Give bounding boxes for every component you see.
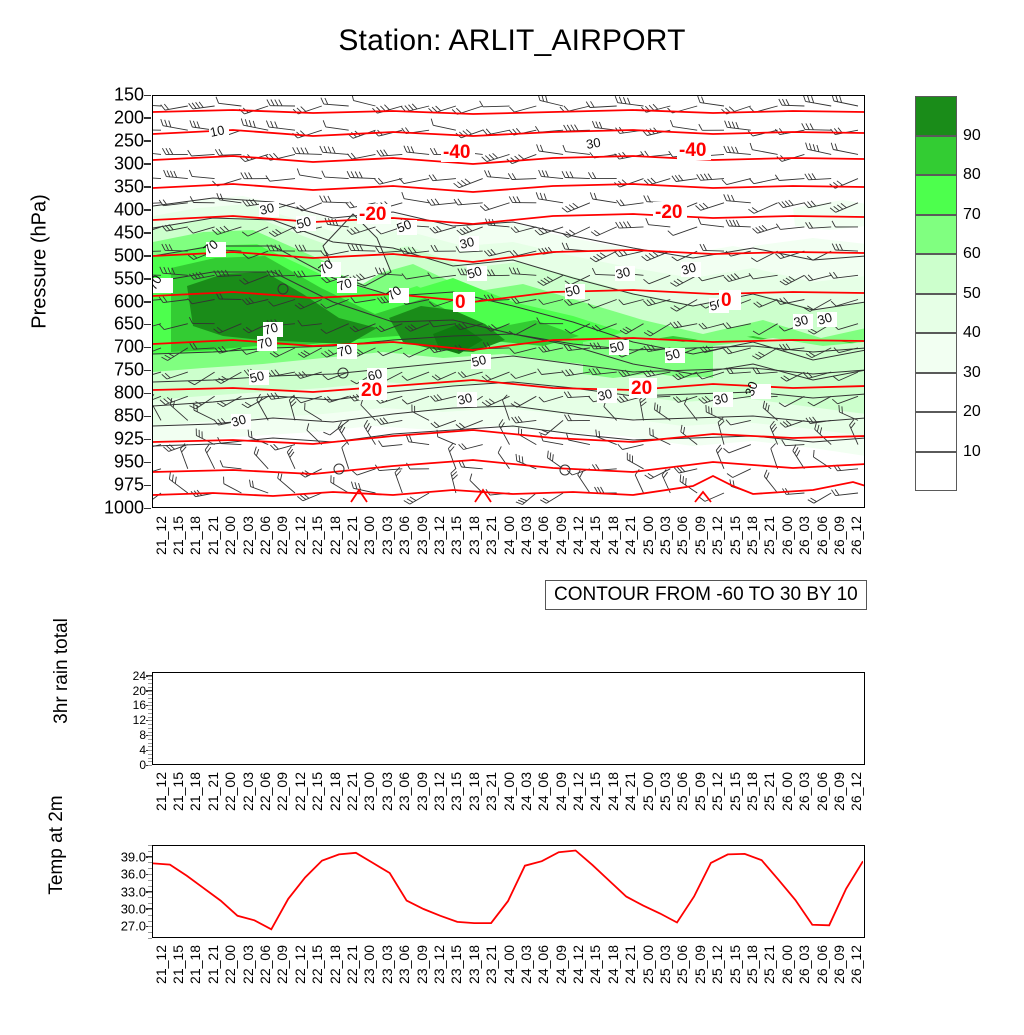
rain-panel-ytick-labels: 24201612840	[100, 672, 146, 765]
rain-time-tick-24_03: 24_03	[518, 772, 534, 811]
rain-tick-8: 8	[102, 728, 146, 742]
rain-time-tick-23_15: 23_15	[448, 772, 464, 811]
rain-time-tick-23_21: 23_21	[483, 772, 499, 811]
temp-time-tick-25_06: 25_06	[674, 945, 690, 984]
rain-time-tick-23_12: 23_12	[431, 772, 447, 811]
page-title: Station: ARLIT_AIRPORT	[0, 24, 1024, 58]
pressure-tick-400: 400	[84, 199, 144, 220]
wind-barb-feather	[686, 478, 687, 485]
time-tick-23_15: 23_15	[448, 516, 464, 555]
main-panel-ylabel: Pressure (hPa)	[29, 142, 52, 382]
temp-time-tick-24_06: 24_06	[535, 945, 551, 984]
rain-time-tick-23_09: 23_09	[414, 772, 430, 811]
pressure-tickmark	[144, 439, 151, 441]
temp-time-tick-26_00: 26_00	[779, 945, 795, 984]
wind-barb-feather	[814, 450, 815, 457]
temp-panel-ytick-labels: 39.036.033.030.027.0	[92, 845, 146, 938]
time-tick-23_09: 23_09	[414, 516, 430, 555]
temp-time-tick-22_18: 22_18	[327, 945, 343, 984]
temp-time-tick-25_21: 25_21	[761, 945, 777, 984]
time-tick-24_18: 24_18	[605, 516, 621, 555]
temp-time-tick-23_06: 23_06	[396, 945, 412, 984]
temp-time-tick-22_03: 22_03	[240, 945, 256, 984]
temp-time-tick-25_15: 25_15	[727, 945, 743, 984]
pressure-tick-600: 600	[84, 291, 144, 312]
temp-time-tick-21_15: 21_15	[170, 945, 186, 984]
time-tick-25_09: 25_09	[692, 516, 708, 555]
rain-time-tick-24_00: 24_00	[501, 772, 517, 811]
pressure-tick-800: 800	[84, 383, 144, 404]
rain-time-tick-25_00: 25_00	[640, 772, 656, 811]
pressure-tickmark	[144, 393, 151, 395]
rain-time-tick-24_12: 24_12	[570, 772, 586, 811]
temp-minor-tickmark	[148, 938, 152, 939]
pressure-tick-650: 650	[84, 314, 144, 335]
temp-tick-27.0: 27.0	[102, 919, 146, 934]
temp-time-tick-23_00: 23_00	[361, 945, 377, 984]
svg-text:-40: -40	[679, 140, 706, 161]
time-tick-22_21: 22_21	[344, 516, 360, 555]
pressure-tickmark	[144, 324, 151, 326]
temp-time-tick-26_06: 26_06	[814, 945, 830, 984]
temp-time-tick-23_03: 23_03	[379, 945, 395, 984]
time-tick-21_12: 21_12	[153, 516, 169, 555]
wind-barb-feather	[839, 405, 840, 412]
time-tick-26_12: 26_12	[848, 516, 864, 555]
temp-time-tick-22_06: 22_06	[257, 945, 273, 984]
time-tick-25_12: 25_12	[709, 516, 725, 555]
colorbar-band-6	[915, 333, 957, 373]
rain-time-tick-21_18: 21_18	[187, 772, 203, 811]
time-tick-21_21: 21_21	[205, 516, 221, 555]
temp-time-tick-25_18: 25_18	[744, 945, 760, 984]
pressure-tickmark	[144, 140, 151, 142]
rain-time-tick-25_12: 25_12	[709, 772, 725, 811]
temp-time-tick-24_12: 24_12	[570, 945, 586, 984]
temp-time-tick-21_21: 21_21	[205, 945, 221, 984]
temp-time-tick-22_09: 22_09	[274, 945, 290, 984]
temperature-plot[interactable]	[152, 845, 865, 938]
contour-caption: CONTOUR FROM -60 TO 30 BY 10	[545, 580, 867, 610]
temp-time-tick-26_12: 26_12	[848, 945, 864, 984]
pressure-tickmark	[144, 232, 151, 234]
temp-time-tick-23_15: 23_15	[448, 945, 464, 984]
svg-text:20: 20	[361, 380, 382, 401]
time-tick-26_09: 26_09	[831, 516, 847, 555]
pressure-tick-925: 925	[84, 429, 144, 450]
temp-time-tick-23_21: 23_21	[483, 945, 499, 984]
pressure-tick-750: 750	[84, 360, 144, 381]
rain-panel-xtick-labels: 21_1221_1521_1821_2122_0022_0322_0622_09…	[152, 772, 865, 852]
time-tick-24_12: 24_12	[570, 516, 586, 555]
temp-time-tick-25_12: 25_12	[709, 945, 725, 984]
pressure-tickmark	[144, 278, 151, 280]
pressure-tick-500: 500	[84, 245, 144, 266]
temp-panel-ylabel: Temp at 2m	[46, 750, 68, 940]
temp-panel-xtick-labels: 21_1221_1521_1821_2122_0022_0322_0622_09…	[152, 945, 865, 1025]
colorbar-band-0	[915, 96, 957, 136]
colorbar-label-10: 10	[963, 443, 981, 461]
time-tick-24_06: 24_06	[535, 516, 551, 555]
time-tick-25_03: 25_03	[657, 516, 673, 555]
temp-time-tick-22_12: 22_12	[292, 945, 308, 984]
pressure-tick-250: 250	[84, 130, 144, 151]
time-tick-22_18: 22_18	[327, 516, 343, 555]
rain-time-tick-25_06: 25_06	[674, 772, 690, 811]
rain-minor-tickmark	[148, 765, 152, 766]
time-tick-23_00: 23_00	[361, 516, 377, 555]
pressure-tickmark	[144, 209, 151, 211]
pressure-tickmark	[144, 301, 151, 303]
temp-time-tick-25_09: 25_09	[692, 945, 708, 984]
rain-time-tick-25_15: 25_15	[727, 772, 743, 811]
temp-time-tick-23_09: 23_09	[414, 945, 430, 984]
rain-time-tick-22_18: 22_18	[327, 772, 343, 811]
time-tick-22_09: 22_09	[274, 516, 290, 555]
temp-time-tick-21_12: 21_12	[153, 945, 169, 984]
pressure-tick-700: 700	[84, 337, 144, 358]
colorbar-label-90: 90	[963, 127, 981, 145]
pressure-tickmark	[144, 416, 151, 418]
svg-text:30: 30	[585, 135, 602, 152]
rain-time-tick-21_15: 21_15	[170, 772, 186, 811]
pressure-tick-550: 550	[84, 268, 144, 289]
temp-time-tick-24_03: 24_03	[518, 945, 534, 984]
temp-time-tick-24_00: 24_00	[501, 945, 517, 984]
pressure-tick-300: 300	[84, 153, 144, 174]
rain-tick-20: 20	[102, 684, 146, 698]
pressure-tickmark	[144, 347, 151, 349]
rain-tick-0: 0	[102, 758, 146, 772]
rain-time-tick-26_00: 26_00	[779, 772, 795, 811]
time-tick-23_03: 23_03	[379, 516, 395, 555]
rain-tick-4: 4	[102, 743, 146, 757]
rain-time-tick-22_00: 22_00	[222, 772, 238, 811]
temp-time-tick-26_03: 26_03	[796, 945, 812, 984]
rain-time-tick-22_12: 22_12	[292, 772, 308, 811]
rain-time-tick-25_21: 25_21	[761, 772, 777, 811]
colorbar-label-60: 60	[963, 245, 981, 263]
rain-time-tick-23_06: 23_06	[396, 772, 412, 811]
rain-total-plot[interactable]	[152, 672, 865, 765]
colorbar-band-4	[915, 254, 957, 294]
time-tick-22_06: 22_06	[257, 516, 273, 555]
colorbar-band-8	[915, 412, 957, 452]
main-panel-ytick-labels: 1502002503003504004505005506006507007508…	[82, 95, 144, 508]
pressure-tick-850: 850	[84, 406, 144, 427]
rain-time-tick-24_21: 24_21	[622, 772, 638, 811]
temp-time-tick-23_18: 23_18	[466, 945, 482, 984]
colorbar-label-30: 30	[963, 364, 981, 382]
rain-time-tick-26_09: 26_09	[831, 772, 847, 811]
time-tick-25_18: 25_18	[744, 516, 760, 555]
time-tick-25_21: 25_21	[761, 516, 777, 555]
temp-tick-30.0: 30.0	[102, 901, 146, 916]
svg-text:0: 0	[455, 292, 466, 313]
rain-time-tick-23_18: 23_18	[466, 772, 482, 811]
temp-time-tick-26_09: 26_09	[831, 945, 847, 984]
rain-tick-16: 16	[102, 698, 146, 712]
rain-time-tick-24_18: 24_18	[605, 772, 621, 811]
temp-time-tick-24_15: 24_15	[587, 945, 603, 984]
pressure-tickmark	[144, 370, 151, 372]
rain-time-tick-26_12: 26_12	[848, 772, 864, 811]
rain-time-tick-23_00: 23_00	[361, 772, 377, 811]
time-tick-25_06: 25_06	[674, 516, 690, 555]
temp-time-tick-22_00: 22_00	[222, 945, 238, 984]
colorbar-band-5	[915, 294, 957, 334]
pressure-tickmark	[144, 462, 151, 464]
rain-tick-24: 24	[102, 669, 146, 683]
rain-time-tick-22_09: 22_09	[274, 772, 290, 811]
colorbar-label-50: 50	[963, 285, 981, 303]
svg-text:0: 0	[721, 290, 732, 311]
pressure-tickmark	[144, 508, 151, 510]
svg-text:-40: -40	[443, 142, 470, 163]
time-tick-24_03: 24_03	[518, 516, 534, 555]
pressure-tickmark	[144, 117, 151, 119]
temp-time-tick-24_09: 24_09	[553, 945, 569, 984]
time-tick-22_00: 22_00	[222, 516, 238, 555]
pressure-tick-150: 150	[84, 85, 144, 106]
rain-panel-ylabel: 3hr rain total	[51, 581, 73, 761]
colorbar-band-3	[915, 215, 957, 255]
time-tick-22_03: 22_03	[240, 516, 256, 555]
pressure-tickmark	[144, 255, 151, 257]
time-tick-23_18: 23_18	[466, 516, 482, 555]
pressure-tick-1000: 1000	[84, 498, 144, 519]
humidity-cross-section-plot[interactable]: 10 30 50 70 70 70 50 30 50 30 30 50 50 3…	[152, 95, 865, 508]
time-tick-23_21: 23_21	[483, 516, 499, 555]
temp-time-tick-21_18: 21_18	[187, 945, 203, 984]
colorbar-band-9	[915, 452, 957, 492]
temp-time-tick-24_18: 24_18	[605, 945, 621, 984]
svg-text:-20: -20	[359, 204, 386, 225]
colorbar-label-80: 80	[963, 166, 981, 184]
colorbar-band-7	[915, 373, 957, 413]
pressure-tick-450: 450	[84, 222, 144, 243]
rain-time-tick-22_15: 22_15	[309, 772, 325, 811]
temp-time-tick-25_03: 25_03	[657, 945, 673, 984]
time-tick-25_00: 25_00	[640, 516, 656, 555]
colorbar-band-1	[915, 136, 957, 176]
colorbar-band-2	[915, 175, 957, 215]
rain-time-tick-22_21: 22_21	[344, 772, 360, 811]
rain-time-tick-26_03: 26_03	[796, 772, 812, 811]
time-tick-25_15: 25_15	[727, 516, 743, 555]
rain-time-tick-23_03: 23_03	[379, 772, 395, 811]
time-tick-24_00: 24_00	[501, 516, 517, 555]
pressure-tickmark	[144, 485, 151, 487]
rain-time-tick-24_09: 24_09	[553, 772, 569, 811]
svg-text:-20: -20	[655, 202, 682, 223]
time-tick-24_21: 24_21	[622, 516, 638, 555]
time-tick-24_09: 24_09	[553, 516, 569, 555]
wind-barb-feather	[842, 406, 843, 413]
temp-time-tick-24_21: 24_21	[622, 945, 638, 984]
rain-time-tick-22_03: 22_03	[240, 772, 256, 811]
time-tick-21_18: 21_18	[187, 516, 203, 555]
rain-time-tick-22_06: 22_06	[257, 772, 273, 811]
colorbar-label-40: 40	[963, 324, 981, 342]
time-tick-26_06: 26_06	[814, 516, 830, 555]
time-tick-26_03: 26_03	[796, 516, 812, 555]
rain-time-tick-26_06: 26_06	[814, 772, 830, 811]
colorbar-label-70: 70	[963, 206, 981, 224]
pressure-tickmark	[144, 95, 151, 97]
rain-tick-12: 12	[102, 713, 146, 727]
time-tick-21_15: 21_15	[170, 516, 186, 555]
pressure-tickmark	[144, 163, 151, 165]
time-tick-24_15: 24_15	[587, 516, 603, 555]
rain-time-tick-24_15: 24_15	[587, 772, 603, 811]
relative-humidity-colorbar: 908070605040302010	[915, 96, 957, 491]
colorbar-label-20: 20	[963, 403, 981, 421]
rain-time-tick-25_03: 25_03	[657, 772, 673, 811]
pressure-tick-200: 200	[84, 107, 144, 128]
time-tick-26_00: 26_00	[779, 516, 795, 555]
temp-tick-36.0: 36.0	[102, 867, 146, 882]
svg-text:20: 20	[631, 378, 652, 399]
time-tick-23_06: 23_06	[396, 516, 412, 555]
svg-text:10: 10	[209, 122, 226, 140]
pressure-tickmark	[144, 186, 151, 188]
time-tick-22_15: 22_15	[309, 516, 325, 555]
wind-barb-shaft	[153, 130, 161, 131]
pressure-tick-350: 350	[84, 176, 144, 197]
rain-time-tick-25_18: 25_18	[744, 772, 760, 811]
temp-tick-33.0: 33.0	[102, 884, 146, 899]
rain-time-tick-24_06: 24_06	[535, 772, 551, 811]
rain-time-tick-21_21: 21_21	[205, 772, 221, 811]
temp-time-tick-22_15: 22_15	[309, 945, 325, 984]
temp-time-tick-22_21: 22_21	[344, 945, 360, 984]
temperature-series	[153, 851, 863, 930]
rain-time-tick-21_12: 21_12	[153, 772, 169, 811]
temp-time-tick-23_12: 23_12	[431, 945, 447, 984]
pressure-tick-950: 950	[84, 452, 144, 473]
pressure-tick-975: 975	[84, 475, 144, 496]
temp-time-tick-25_00: 25_00	[640, 945, 656, 984]
time-tick-23_12: 23_12	[431, 516, 447, 555]
rain-time-tick-25_09: 25_09	[692, 772, 708, 811]
temp-tick-39.0: 39.0	[102, 849, 146, 864]
time-tick-22_12: 22_12	[292, 516, 308, 555]
